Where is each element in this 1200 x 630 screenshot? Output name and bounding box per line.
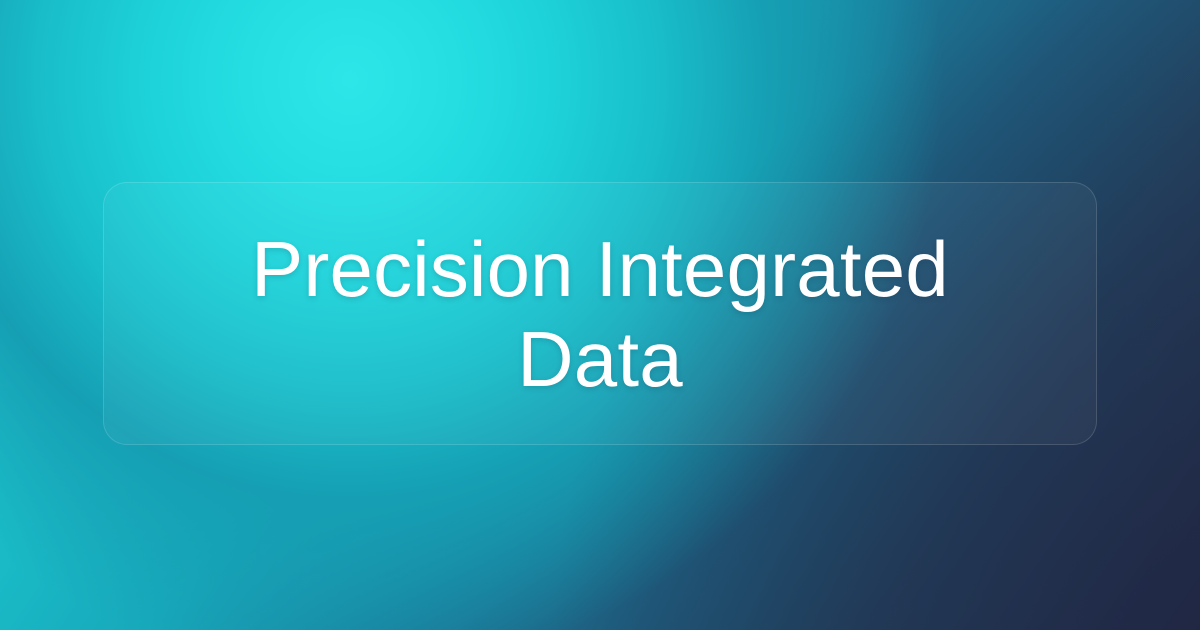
hero-title-line-1: Precision Integrated <box>251 225 949 313</box>
hero-title-line-2: Data <box>517 315 683 403</box>
hero-background: Precision IntegratedData <box>0 0 1200 630</box>
hero-card: Precision IntegratedData <box>103 182 1097 445</box>
hero-title: Precision IntegratedData <box>150 224 1050 404</box>
